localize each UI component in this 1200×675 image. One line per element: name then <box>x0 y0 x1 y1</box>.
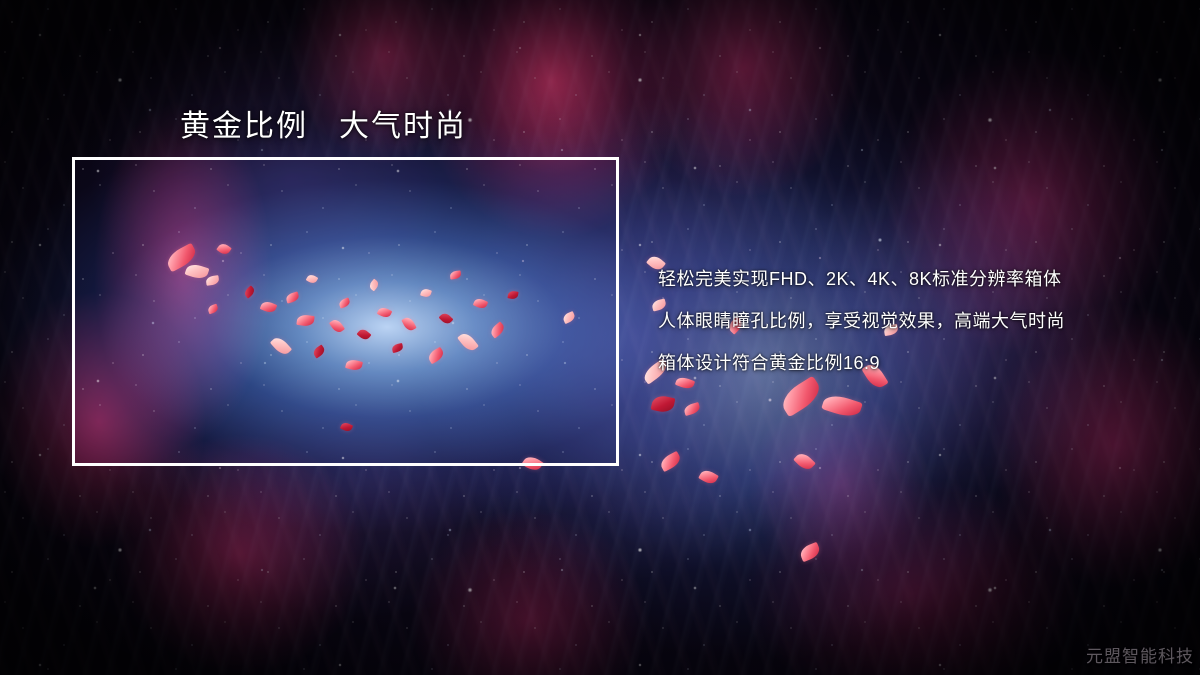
framed-photo-starfield-small <box>75 160 616 463</box>
rose-petal <box>473 297 489 311</box>
rose-petal <box>489 321 507 338</box>
framed-photo-violet-clouds <box>75 160 616 463</box>
rose-petal <box>270 335 292 358</box>
rose-petal <box>312 344 327 358</box>
watermark-brand: 元盟智能科技 <box>1086 642 1194 667</box>
rose-petal <box>368 279 381 292</box>
body-line-2: 人体眼睛瞳孔比例，享受视觉效果，高端大气时尚 <box>658 300 1178 342</box>
rose-petal <box>507 290 518 300</box>
rose-petal <box>207 304 219 315</box>
rose-petal <box>391 343 403 353</box>
rose-petal <box>401 315 416 332</box>
rose-petal <box>260 300 278 315</box>
rose-petal <box>216 241 232 256</box>
rose-petal <box>457 330 479 353</box>
framed-photo-inner <box>75 160 616 463</box>
framed-photo-crimson-clouds <box>75 160 616 463</box>
rose-petal <box>164 243 199 273</box>
rose-petal <box>658 451 683 472</box>
rose-petal <box>205 275 219 286</box>
rose-petal <box>793 450 816 473</box>
rose-petal <box>450 270 462 279</box>
rose-petal <box>562 311 577 324</box>
framed-photo-starfield-medium <box>75 160 616 463</box>
rose-petal <box>821 392 863 421</box>
body-line-3: 箱体设计符合黄金比例16:9 <box>658 342 1178 384</box>
rose-petal <box>306 273 319 285</box>
framed-photo-image <box>75 160 616 463</box>
framed-photo-nebula-base <box>75 160 616 463</box>
rose-petal <box>798 542 822 562</box>
rose-petal <box>377 306 393 320</box>
rose-petal <box>357 327 372 342</box>
body-line-1: 轻松完美实现FHD、2K、4K、8K标准分辨率箱体 <box>658 258 1178 300</box>
rose-petal <box>243 285 257 298</box>
rose-petal <box>185 262 210 281</box>
framed-photo[interactable] <box>72 157 619 466</box>
rose-petal <box>521 453 547 463</box>
rose-petal <box>329 317 345 334</box>
rose-petal <box>345 358 363 372</box>
rose-petal <box>651 394 676 414</box>
rose-petal <box>338 297 351 308</box>
rose-petal <box>420 288 432 299</box>
rose-petal <box>683 402 701 416</box>
rose-petal <box>698 468 719 487</box>
framed-photo-petal-layer <box>75 160 616 463</box>
slide-title: 黄金比例 大气时尚 <box>180 101 467 145</box>
rose-petal <box>439 311 454 326</box>
presentation-slide: 黄金比例 大气时尚 轻松完美实现FHD、2K、4K、8K标准分辨率箱体 人体眼睛… <box>0 0 1200 675</box>
rose-petal <box>340 421 353 433</box>
rose-petal <box>426 347 445 365</box>
rose-petal <box>285 291 300 303</box>
slide-body-copy: 轻松完美实现FHD、2K、4K、8K标准分辨率箱体 人体眼睛瞳孔比例，享受视觉效… <box>658 258 1178 384</box>
rose-petal <box>296 314 314 327</box>
